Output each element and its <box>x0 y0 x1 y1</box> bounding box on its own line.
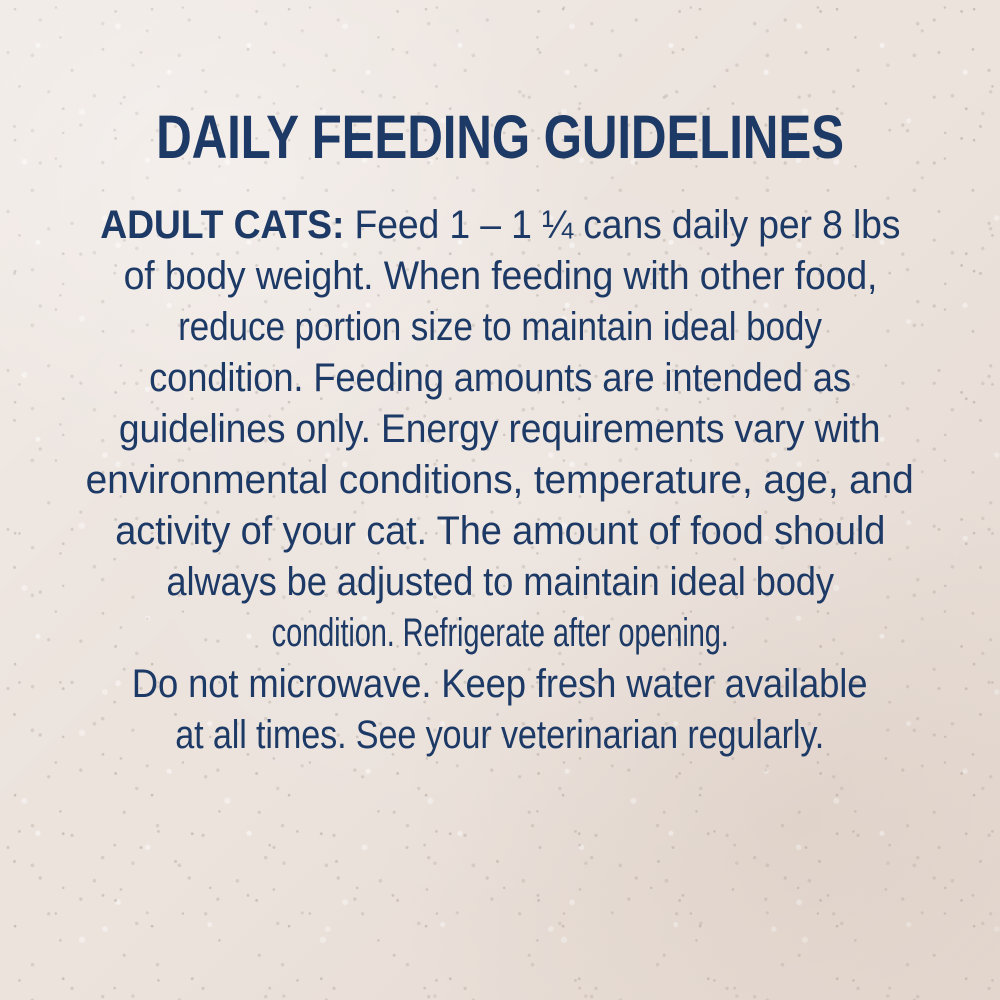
feeding-line: condition. Feeding amounts are intended … <box>149 353 851 404</box>
storage-instructions-paragraph: Do not microwave. Keep fresh water avail… <box>60 659 940 761</box>
feeding-guidelines-text: ADULT CATS: Feed 1 – 1 ¼ cans daily per … <box>60 200 940 761</box>
feeding-line: activity of your cat. The amount of food… <box>115 506 885 557</box>
feeding-line: of body weight. When feeding with other … <box>123 251 877 302</box>
feeding-line: always be adjusted to maintain ideal bod… <box>166 557 834 608</box>
feeding-line: reduce portion size to maintain ideal bo… <box>178 302 822 353</box>
feeding-line: condition. Refrigerate after opening. <box>271 608 728 659</box>
feeding-guidelines-label: DAILY FEEDING GUIDELINES ADULT CATS: Fee… <box>0 0 1000 1000</box>
label-content: DAILY FEEDING GUIDELINES ADULT CATS: Fee… <box>0 0 1000 1000</box>
feeding-line: ADULT CATS: Feed 1 – 1 ¼ cans daily per … <box>100 200 900 251</box>
feeding-line: environmental conditions, temperature, a… <box>86 455 914 506</box>
adult-cats-label: ADULT CATS: <box>100 203 344 247</box>
feeding-line-text: Feed 1 – 1 ¼ cans daily per 8 lbs <box>344 203 900 247</box>
storage-line: Do not microwave. Keep fresh water avail… <box>132 659 868 710</box>
feeding-line: guidelines only. Energy requirements var… <box>119 404 880 455</box>
storage-line: at all times. See your veterinarian regu… <box>176 710 825 761</box>
page-title: DAILY FEEDING GUIDELINES <box>95 104 905 170</box>
feeding-instructions-paragraph: ADULT CATS: Feed 1 – 1 ¼ cans daily per … <box>60 200 940 659</box>
